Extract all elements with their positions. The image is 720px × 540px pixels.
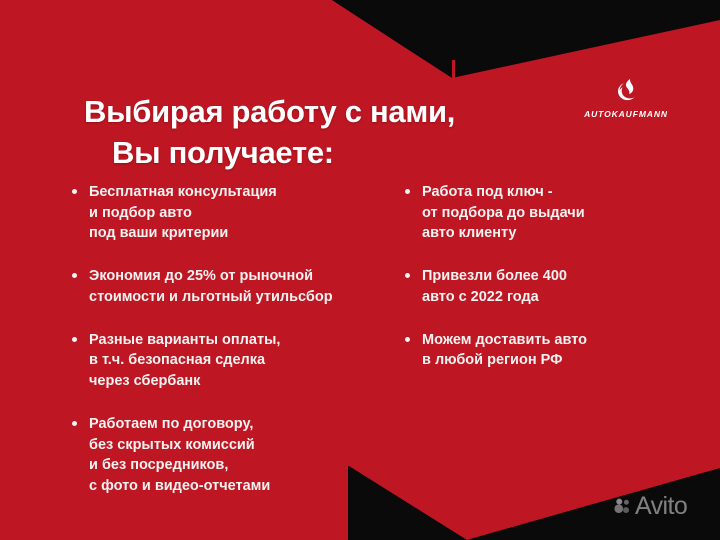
list-item-text: Привезли более 400 авто с 2022 года — [422, 266, 693, 307]
brand-name: AUTOKAUFMANN — [580, 109, 672, 119]
list-line: Можем доставить авто — [422, 330, 693, 351]
list-line: с фото и видео-отчетами — [89, 476, 400, 497]
list-line: Работа под ключ - — [422, 182, 693, 203]
bullet-dot-icon — [72, 273, 77, 278]
list-item-text: Работаем по договору, без скрытых комисс… — [89, 414, 400, 497]
list-item: Привезли более 400 авто с 2022 года — [403, 266, 693, 307]
list-line: в любой регион РФ — [422, 350, 693, 371]
list-line: от подбора до выдачи — [422, 203, 693, 224]
list-item: Можем доставить авто в любой регион РФ — [403, 330, 693, 371]
avito-dots-icon — [614, 498, 631, 515]
list-line: под ваши критерии — [89, 223, 400, 244]
list-line: и подбор авто — [89, 203, 400, 224]
benefits-left-column: Бесплатная консультация и подбор авто по… — [70, 182, 400, 497]
list-line: Экономия до 25% от рыночной — [89, 266, 400, 287]
bullet-dot-icon — [72, 337, 77, 342]
list-item: Экономия до 25% от рыночной стоимости и … — [70, 266, 400, 307]
list-line: Бесплатная консультация — [89, 182, 400, 203]
promo-banner: Выбирая работу с нами, Вы получаете: AUT… — [0, 0, 720, 540]
list-item: Разные варианты оплаты, в т.ч. безопасна… — [70, 330, 400, 392]
list-item-text: Можем доставить авто в любой регион РФ — [422, 330, 693, 371]
bullet-dot-icon — [405, 189, 410, 194]
list-line: через сбербанк — [89, 371, 400, 392]
list-line: в т.ч. безопасная сделка — [89, 350, 400, 371]
brand-logo: AUTOKAUFMANN — [580, 76, 672, 119]
list-item-text: Бесплатная консультация и подбор авто по… — [89, 182, 400, 244]
list-item: Работаем по договору, без скрытых комисс… — [70, 414, 400, 497]
headline-line-1: Выбирая работу с нами, — [84, 91, 554, 132]
list-item: Работа под ключ - от подбора до выдачи а… — [403, 182, 693, 244]
list-line: Разные варианты оплаты, — [89, 330, 400, 351]
headline: Выбирая работу с нами, Вы получаете: — [84, 91, 554, 173]
bullet-dot-icon — [405, 337, 410, 342]
bullet-dot-icon — [405, 273, 410, 278]
benefits-right-column: Работа под ключ - от подбора до выдачи а… — [403, 182, 693, 371]
list-item: Бесплатная консультация и подбор авто по… — [70, 182, 400, 244]
list-item-text: Экономия до 25% от рыночной стоимости и … — [89, 266, 400, 307]
flame-swoosh-icon — [611, 76, 641, 106]
list-line: авто с 2022 года — [422, 287, 693, 308]
headline-line-2: Вы получаете: — [84, 132, 554, 173]
avito-label: Avito — [635, 494, 687, 519]
list-line: Работаем по договору, — [89, 414, 400, 435]
bullet-dot-icon — [72, 189, 77, 194]
list-line: и без посредников, — [89, 455, 400, 476]
list-line: авто клиенту — [422, 223, 693, 244]
bullet-dot-icon — [72, 421, 77, 426]
list-item-text: Работа под ключ - от подбора до выдачи а… — [422, 182, 693, 244]
list-line: без скрытых комиссий — [89, 435, 400, 456]
list-line: стоимости и льготный утильсбор — [89, 287, 400, 308]
list-item-text: Разные варианты оплаты, в т.ч. безопасна… — [89, 330, 400, 392]
list-line: Привезли более 400 — [422, 266, 693, 287]
avito-watermark: Avito — [614, 494, 687, 519]
